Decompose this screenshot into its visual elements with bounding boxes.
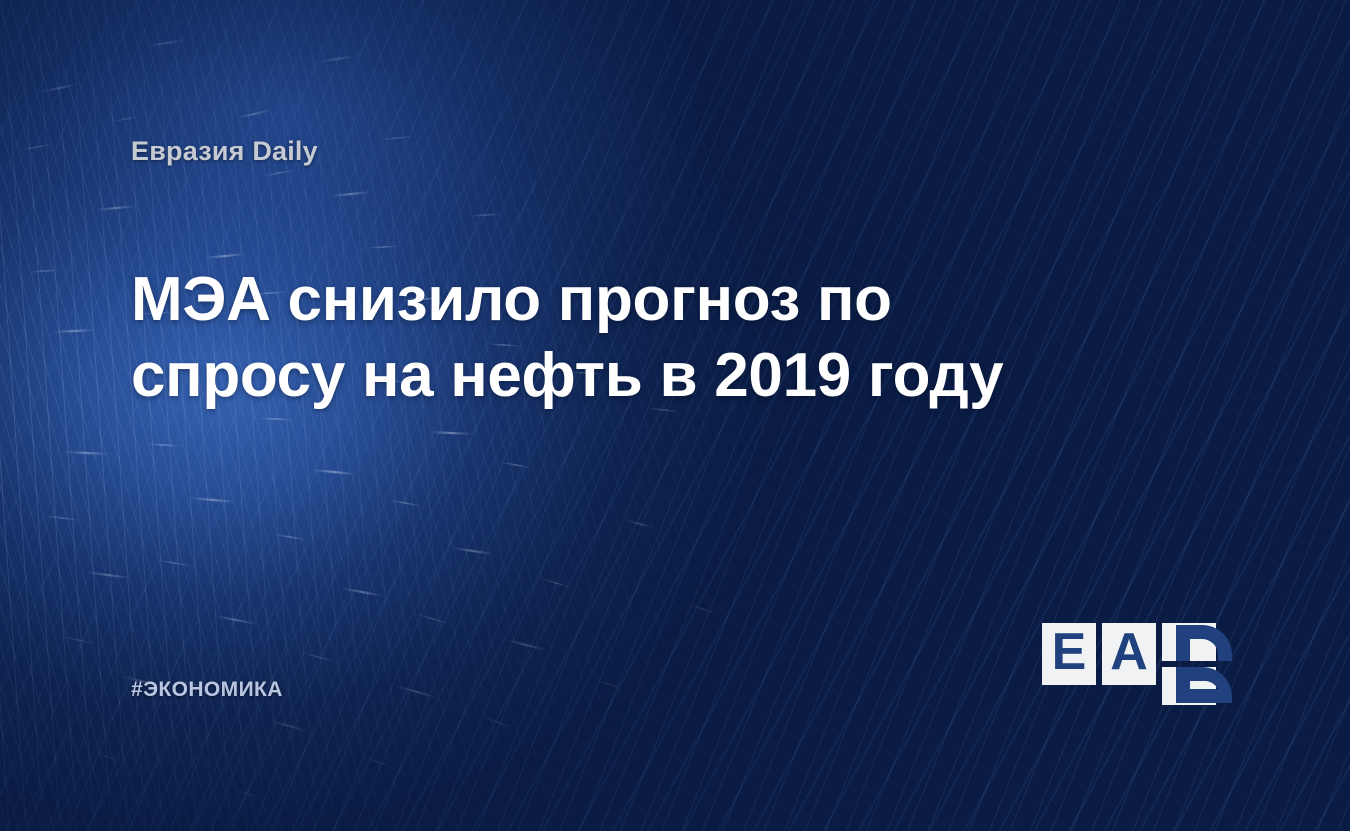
logo-letter-d-icon: [1162, 617, 1248, 711]
page-title: МЭА снизило прогноз по спросу на нефть в…: [131, 262, 1031, 414]
logo-letter-a: A: [1110, 626, 1148, 678]
card-content: Евразия Daily МЭА снизило прогноз по спр…: [0, 0, 1350, 831]
category-hashtag: #ЭКОНОМИКА: [131, 678, 283, 702]
share-card: Евразия Daily МЭА снизило прогноз по спр…: [0, 0, 1350, 831]
brand-name: Евразия Daily: [131, 136, 318, 167]
logo-tile-d: [1162, 623, 1216, 705]
eadaily-logo: E A: [1042, 623, 1222, 705]
logo-letter-e: E: [1052, 626, 1087, 678]
logo-tile-e: E: [1042, 623, 1096, 685]
logo-tile-a: A: [1102, 623, 1156, 685]
